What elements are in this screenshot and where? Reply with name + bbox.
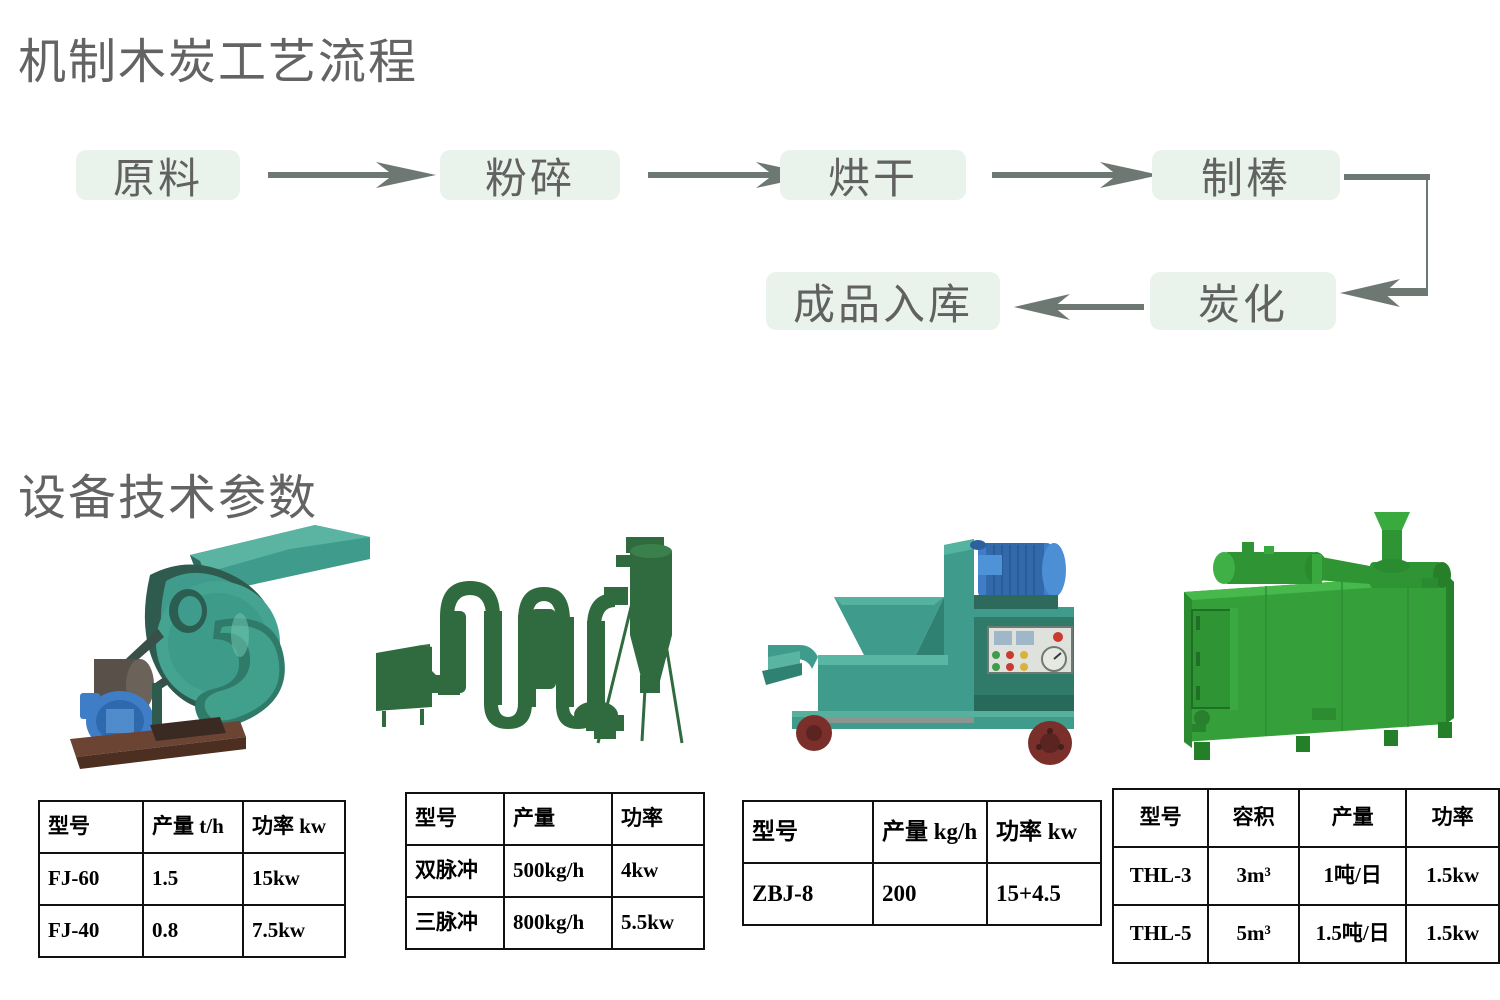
machine-photo-airflow-dryer (372, 525, 712, 770)
table-row: 双脉冲 500kg/h 4kw (406, 845, 704, 897)
table-row: ZBJ-8 200 15+4.5 (743, 863, 1101, 925)
column-header: 产量 t/h (143, 801, 243, 853)
cell-capacity: 1吨/日 (1299, 847, 1406, 905)
table-row: FJ-40 0.8 7.5kw (39, 905, 345, 957)
cell-power: 15kw (243, 853, 345, 905)
cell-power: 1.5kw (1406, 847, 1499, 905)
table-header-row: 型号 容积 产量 功率 (1113, 789, 1499, 847)
cell-model: 双脉冲 (406, 845, 504, 897)
column-header: 产量 (1299, 789, 1406, 847)
flow-step-drying: 烘干 (780, 150, 966, 200)
spec-table-dryer: 型号 产量 功率 双脉冲 500kg/h 4kw 三脉冲 800kg/h 5.5… (405, 792, 705, 950)
column-header: 产量 kg/h (873, 801, 987, 863)
flow-arrow-4-icon (1014, 290, 1144, 324)
table-row: THL-5 5m³ 1.5吨/日 1.5kw (1113, 905, 1499, 963)
column-header: 功率 (612, 793, 704, 845)
cell-model: THL-3 (1113, 847, 1208, 905)
page-title-process-flow: 机制木炭工艺流程 (18, 22, 418, 92)
flow-arrow-3-icon (992, 158, 1162, 192)
column-header: 型号 (743, 801, 873, 863)
cell-model: FJ-60 (39, 853, 143, 905)
table-header-row: 型号 产量 kg/h 功率 kw (743, 801, 1101, 863)
machine-photo-carbonization-furnace (1146, 512, 1486, 767)
column-header: 容积 (1208, 789, 1299, 847)
table-row: FJ-60 1.5 15kw (39, 853, 345, 905)
cell-model: FJ-40 (39, 905, 143, 957)
cell-capacity: 1.5 (143, 853, 243, 905)
column-header: 型号 (39, 801, 143, 853)
table-row: 三脉冲 800kg/h 5.5kw (406, 897, 704, 949)
column-header: 功率 kw (987, 801, 1101, 863)
table-header-row: 型号 产量 功率 (406, 793, 704, 845)
cell-power: 1.5kw (1406, 905, 1499, 963)
flow-wrap-connector-icon (1340, 168, 1500, 318)
flow-step-rod-making: 制棒 (1152, 150, 1340, 200)
flow-step-raw-material: 原料 (76, 150, 240, 200)
flow-step-finished-storage: 成品入库 (766, 272, 1000, 330)
cell-power: 4kw (612, 845, 704, 897)
column-header: 功率 (1406, 789, 1499, 847)
cell-volume: 3m³ (1208, 847, 1299, 905)
flow-step-crushing: 粉碎 (440, 150, 620, 200)
table-row: THL-3 3m³ 1吨/日 1.5kw (1113, 847, 1499, 905)
column-header: 产量 (504, 793, 612, 845)
cell-model: 三脉冲 (406, 897, 504, 949)
cell-model: ZBJ-8 (743, 863, 873, 925)
poster-canvas: 机制木炭工艺流程 设备技术参数 原料 粉碎 烘干 制棒 炭化 成品入库 (0, 0, 1500, 1000)
cell-volume: 5m³ (1208, 905, 1299, 963)
cell-capacity: 800kg/h (504, 897, 612, 949)
section-title-equipment-specs: 设备技术参数 (18, 458, 318, 528)
table-header-row: 型号 产量 t/h 功率 kw (39, 801, 345, 853)
spec-table-crusher: 型号 产量 t/h 功率 kw FJ-60 1.5 15kw FJ-40 0.8… (38, 800, 346, 958)
column-header: 型号 (1113, 789, 1208, 847)
flow-arrow-1-icon (268, 158, 438, 192)
column-header: 型号 (406, 793, 504, 845)
column-header: 功率 kw (243, 801, 345, 853)
cell-capacity: 200 (873, 863, 987, 925)
cell-capacity: 500kg/h (504, 845, 612, 897)
cell-capacity: 0.8 (143, 905, 243, 957)
flow-step-carbonization: 炭化 (1150, 272, 1336, 330)
spec-table-briquette-machine: 型号 产量 kg/h 功率 kw ZBJ-8 200 15+4.5 (742, 800, 1102, 926)
cell-power: 5.5kw (612, 897, 704, 949)
spec-table-carbonization-furnace: 型号 容积 产量 功率 THL-3 3m³ 1吨/日 1.5kw THL-5 5… (1112, 788, 1500, 964)
machine-photo-briquette-machine (762, 525, 1092, 775)
cell-model: THL-5 (1113, 905, 1208, 963)
cell-power: 7.5kw (243, 905, 345, 957)
cell-capacity: 1.5吨/日 (1299, 905, 1406, 963)
cell-power: 15+4.5 (987, 863, 1101, 925)
machine-photo-crusher (40, 525, 370, 775)
